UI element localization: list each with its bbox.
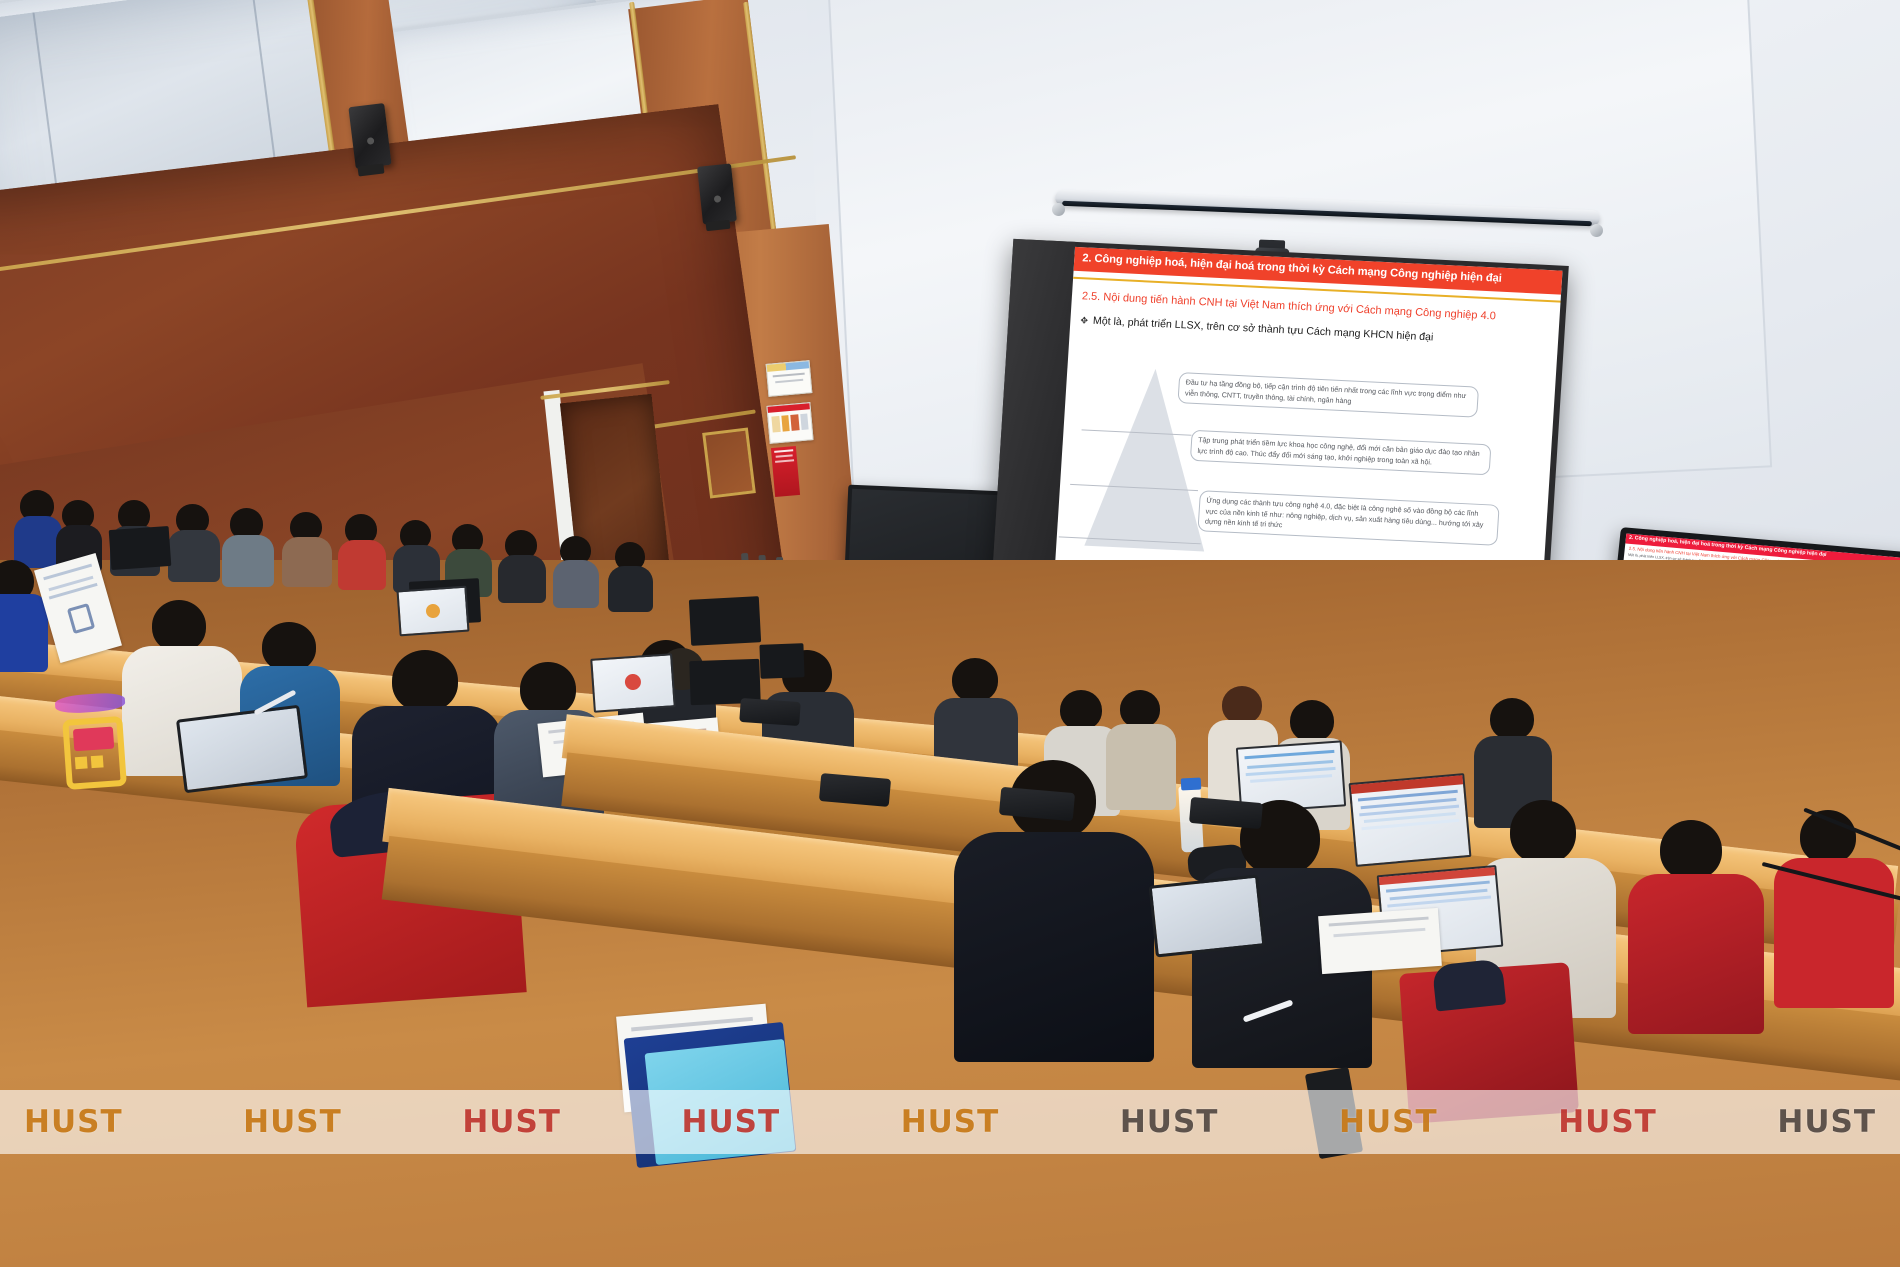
slide-callout-3: Ứng dụng các thành tựu công nghệ 4.0, đặ… (1197, 490, 1499, 545)
fire-instruction-poster (771, 446, 800, 497)
certificate-poster (766, 360, 813, 397)
safety-poster (766, 402, 813, 444)
laptop[interactable] (1349, 773, 1472, 867)
tablet[interactable] (176, 705, 308, 794)
slide-callout-2: Tập trung phát triển tiềm lực khoa học c… (1190, 430, 1492, 475)
bottle-cap (1181, 777, 1202, 790)
laptop[interactable] (109, 526, 172, 570)
laptop[interactable] (590, 653, 676, 713)
slide-callout-1: Đầu tư hạ tầng đồng bộ, tiếp cận trình đ… (1177, 372, 1479, 417)
chair (739, 698, 801, 726)
tablet[interactable] (1149, 874, 1266, 957)
backpack-strap (1432, 958, 1506, 1011)
tshirt-graphic (46, 687, 139, 803)
wall-speaker-center (697, 163, 737, 224)
laptop[interactable] (396, 586, 469, 637)
chair (819, 773, 891, 807)
roller-cap (1052, 203, 1065, 216)
wall-speaker-left (348, 103, 391, 169)
slide-bullet-text: Một là, phát triển LLSX, trên cơ sở thàn… (1093, 315, 1434, 345)
cyan-folder (645, 1039, 796, 1165)
roller-cap (1590, 224, 1603, 237)
lecture-hall-photo: 2. Công nghiệp hoá, hiện đại hoá trong t… (0, 0, 1900, 1267)
laptop[interactable] (689, 596, 761, 646)
wall-frame-panel (702, 427, 756, 498)
worksheet (1318, 908, 1442, 974)
bullet-marker-icon: ✥ (1080, 315, 1088, 329)
laptop[interactable] (759, 643, 804, 679)
